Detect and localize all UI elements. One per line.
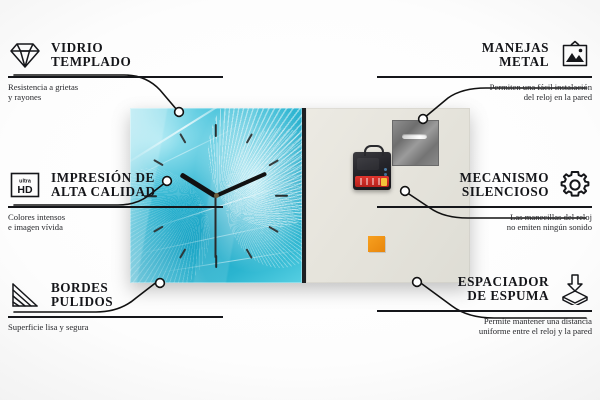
feature-desc-line2: y rayones: [8, 92, 223, 102]
feature-description: Permiten una fácil instalación del reloj…: [377, 82, 592, 103]
feature-divider: [8, 206, 223, 208]
feature-header: MANEJAS METAL: [377, 38, 592, 72]
feature-title: MECANISMO SILENCIOSO: [460, 171, 550, 200]
feature-description: Permite mantener una distancia uniforme …: [377, 316, 592, 337]
feature-header: ultra HD IMPRESIÓN DE ALTA CALIDAD: [8, 168, 223, 202]
infographic-canvas: VIDRIO TEMPLADO Resistencia a grietas y …: [0, 0, 600, 400]
feature-title-line1: ESPACIADOR: [458, 274, 549, 289]
feature-desc-line2: no emiten ningún sonido: [377, 222, 592, 232]
feature-espaciador-espuma: ESPACIADOR DE ESPUMA Permite mantener un…: [377, 272, 592, 336]
movement-hook: [364, 145, 384, 156]
feature-title-line1: BORDES: [51, 280, 108, 295]
feature-description: Resistencia a grietas y rayones: [8, 82, 223, 103]
diamond-icon: [8, 38, 42, 72]
feature-title-line1: IMPRESIÓN DE: [51, 170, 155, 185]
feature-title-line2: SILENCIOSO: [460, 185, 550, 200]
foam-spacer-arrow-icon: [558, 272, 592, 306]
feature-desc-line2: e imagen vívida: [8, 222, 223, 232]
feature-desc-line1: Permite mantener una distancia: [484, 316, 592, 326]
feature-title-line2: TEMPLADO: [51, 55, 131, 70]
feature-title-line2: METAL: [482, 55, 549, 70]
feature-divider: [377, 310, 592, 312]
battery-stripe: [366, 178, 368, 185]
feature-desc-line1: Superficie lisa y segura: [8, 322, 88, 332]
tick-7: [179, 248, 186, 258]
feature-header: MECANISMO SILENCIOSO: [377, 168, 592, 202]
feature-desc-line1: Permiten una fácil instalación: [490, 82, 592, 92]
polished-edges-icon: [8, 278, 42, 312]
tick-3: [275, 194, 288, 196]
feature-title: VIDRIO TEMPLADO: [51, 41, 131, 70]
metal-hanger: [392, 120, 439, 166]
feature-header: ESPACIADOR DE ESPUMA: [377, 272, 592, 306]
feature-desc-line2: uniforme entre el reloj y la pared: [377, 326, 592, 336]
feature-title-line1: MECANISMO: [460, 170, 550, 185]
tick-4: [268, 225, 278, 232]
tick-5: [246, 248, 253, 258]
tick-10: [153, 159, 163, 166]
tick-1: [246, 133, 253, 143]
feature-divider: [377, 76, 592, 78]
battery-stripe: [372, 178, 374, 185]
feature-description: Las manecillas del reloj no emiten ningú…: [377, 212, 592, 233]
feature-title: BORDES PULIDOS: [51, 281, 113, 310]
feature-desc-line1: Las manecillas del reloj: [510, 212, 592, 222]
feature-description: Colores intensos e imagen vívida: [8, 212, 223, 233]
feature-title: ESPACIADOR DE ESPUMA: [458, 275, 549, 304]
feature-bordes-pulidos: BORDES PULIDOS Superficie lisa y segura: [8, 278, 223, 332]
tick-11: [179, 133, 186, 143]
feature-mecanismo-silencioso: MECANISMO SILENCIOSO Las manecillas del …: [377, 168, 592, 232]
svg-text:HD: HD: [17, 184, 33, 196]
feature-manejas-metal: MANEJAS METAL Permiten una fácil instala…: [377, 38, 592, 102]
feature-vidrio-templado: VIDRIO TEMPLADO Resistencia a grietas y …: [8, 38, 223, 102]
feature-divider: [377, 206, 592, 208]
feature-title: IMPRESIÓN DE ALTA CALIDAD: [51, 171, 156, 200]
feature-title-line2: PULIDOS: [51, 295, 113, 310]
feature-desc-line1: Colores intensos: [8, 212, 65, 222]
hanger-slot: [402, 134, 427, 139]
gear-icon: [558, 168, 592, 202]
feature-desc-line1: Resistencia a grietas: [8, 82, 78, 92]
movement-plate: [357, 158, 379, 170]
ultra-hd-icon: ultra HD: [8, 168, 42, 202]
feature-description: Superficie lisa y segura: [8, 322, 223, 332]
feature-desc-line2: del reloj en la pared: [377, 92, 592, 102]
foam-spacer: [368, 236, 385, 252]
feature-divider: [8, 76, 223, 78]
feature-header: VIDRIO TEMPLADO: [8, 38, 223, 72]
tick-2: [268, 159, 278, 166]
feature-title-line1: VIDRIO: [51, 40, 103, 55]
feature-title: MANEJAS METAL: [482, 41, 549, 70]
tick-12: [215, 124, 217, 137]
feature-divider: [8, 316, 223, 318]
feature-title-line2: ALTA CALIDAD: [51, 185, 156, 200]
feature-header: BORDES PULIDOS: [8, 278, 223, 312]
feature-impresion-alta-calidad: ultra HD IMPRESIÓN DE ALTA CALIDAD Color…: [8, 168, 223, 232]
feature-title-line1: MANEJAS: [482, 40, 549, 55]
feature-title-line2: DE ESPUMA: [458, 289, 549, 304]
battery-stripe: [360, 178, 362, 185]
picture-frame-hanger-icon: [558, 38, 592, 72]
